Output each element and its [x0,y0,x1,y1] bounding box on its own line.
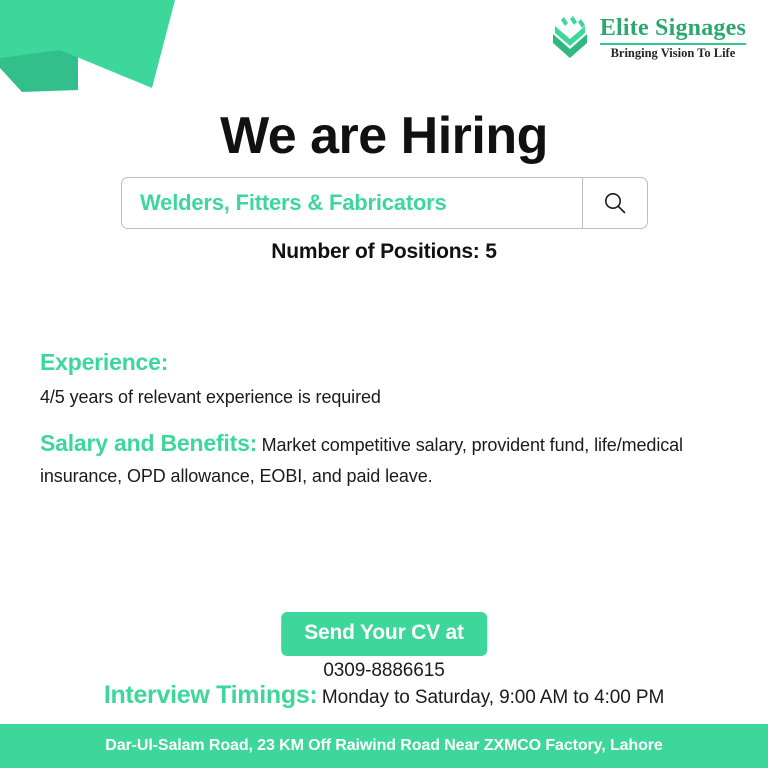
experience-label: Experience: [40,349,720,376]
experience-text: 4/5 years of relevant experience is requ… [40,387,381,407]
search-button[interactable] [583,178,647,228]
salary-section: Salary and Benefits: Market competitive … [40,430,705,492]
interview-timings-value: Monday to Saturday, 9:00 AM to 4:00 PM [322,687,664,708]
search-icon [602,190,628,216]
brand-tagline: Bringing Vision To Life [600,47,746,61]
footer-bar: Dar-Ul-Salam Road, 23 KM Off Raiwind Roa… [0,724,768,768]
interview-timings-label: Interview Timings: [104,681,318,709]
deco-shape-back [0,0,78,92]
salary-label: Salary and Benefits: [40,430,257,456]
brand-logo-text: Elite Signages Bringing Vision To Life [600,16,746,61]
corner-decoration [0,0,230,120]
footer-address: Dar-Ul-Salam Road, 23 KM Off Raiwind Roa… [105,737,662,755]
job-search-bar[interactable]: Welders, Fitters & Fabricators [121,177,648,229]
contact-phone[interactable]: 0309-8886615 [0,660,768,682]
search-input[interactable]: Welders, Fitters & Fabricators [122,178,582,228]
chevron-swoosh-icon [549,16,591,60]
deco-shape-front [0,0,175,88]
brand-logo: Elite Signages Bringing Vision To Life [549,16,746,61]
positions-count: Number of Positions: 5 [0,240,768,264]
hiring-poster: Elite Signages Bringing Vision To Life W… [0,0,768,768]
interview-timings: Interview Timings: Monday to Saturday, 9… [0,681,768,710]
send-cv-button[interactable]: Send Your CV at [281,612,487,656]
page-title: We are Hiring [0,108,768,164]
brand-divider [600,43,746,45]
brand-name: Elite Signages [600,16,746,41]
experience-section: Experience: 4/5 years of relevant experi… [40,349,720,413]
